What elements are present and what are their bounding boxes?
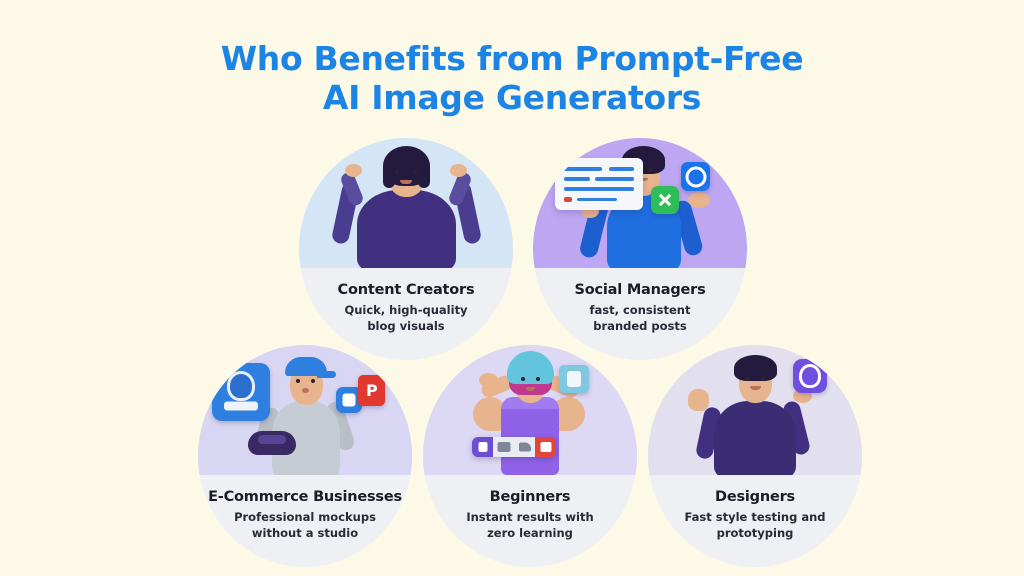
label-designers: Designers Fast style testing and prototy…: [648, 475, 862, 567]
illustration-e-commerce-businesses: P: [198, 345, 412, 475]
illustration-content-creators: [299, 138, 513, 268]
card-title: Designers: [648, 489, 862, 505]
clock-icon: [681, 162, 710, 191]
benefit-card-social-managers[interactable]: Social Managers fast, consistent branded…: [533, 138, 747, 360]
card-title: Social Managers: [533, 282, 747, 298]
editor-toolbar[interactable]: [472, 437, 556, 457]
card-description-line-1: Professional mockups: [212, 509, 398, 525]
card-description-line-2: without a studio: [212, 525, 398, 541]
image-panel-icon: [212, 363, 270, 421]
benefit-card-content-creators[interactable]: Content Creators Quick, high-quality blo…: [299, 138, 513, 360]
card-description-line-1: Fast style testing and: [662, 509, 848, 525]
card-description-line-1: fast, consistent: [547, 302, 733, 318]
card-title: Beginners: [423, 489, 637, 505]
illustration-beginners: [423, 345, 637, 475]
benefit-card-beginners[interactable]: Beginners Instant results with zero lear…: [423, 345, 637, 567]
illustration-designers: [648, 345, 862, 475]
benefit-card-designers[interactable]: Designers Fast style testing and prototy…: [648, 345, 862, 567]
page-title-line-1: Who Benefits from Prompt-Free: [0, 40, 1024, 79]
card-title: Content Creators: [299, 282, 513, 298]
image-icon[interactable]: [493, 437, 514, 457]
card-description-line-2: zero learning: [437, 525, 623, 541]
card-description-line-2: prototyping: [662, 525, 848, 541]
page-title-line-2: AI Image Generators: [0, 79, 1024, 118]
benefit-cards-grid: Content Creators Quick, high-quality blo…: [0, 138, 1024, 558]
lock-icon[interactable]: [472, 437, 493, 457]
card-description: Fast style testing and prototyping: [648, 509, 862, 542]
page-title: Who Benefits from Prompt-Free AI Image G…: [0, 40, 1024, 118]
crop-icon[interactable]: [514, 437, 535, 457]
post-preview-card: [555, 158, 643, 210]
card-description: fast, consistent branded posts: [533, 302, 747, 335]
label-e-commerce-businesses: E-Commerce Businesses Professional mocku…: [198, 475, 412, 567]
image-preview-icon: [559, 365, 589, 393]
benefit-card-e-commerce-businesses[interactable]: P E-Commerce Businesses Professional moc…: [198, 345, 412, 567]
card-description: Instant results with zero learning: [423, 509, 637, 542]
card-description: Professional mockups without a studio: [198, 509, 412, 542]
card-description-line-1: Quick, high-quality: [313, 302, 499, 318]
droplet-app-icon: [793, 359, 827, 393]
card-description-line-1: Instant results with: [437, 509, 623, 525]
card-description-line-2: blog visuals: [313, 318, 499, 334]
illustration-social-managers: [533, 138, 747, 268]
card-description-line-2: branded posts: [547, 318, 733, 334]
label-beginners: Beginners Instant results with zero lear…: [423, 475, 637, 567]
tools-icon: [651, 186, 679, 214]
upload-icon[interactable]: [535, 437, 556, 457]
card-title: E-Commerce Businesses: [198, 489, 412, 505]
card-description: Quick, high-quality blog visuals: [299, 302, 513, 335]
pinterest-p-icon: P: [358, 375, 385, 406]
